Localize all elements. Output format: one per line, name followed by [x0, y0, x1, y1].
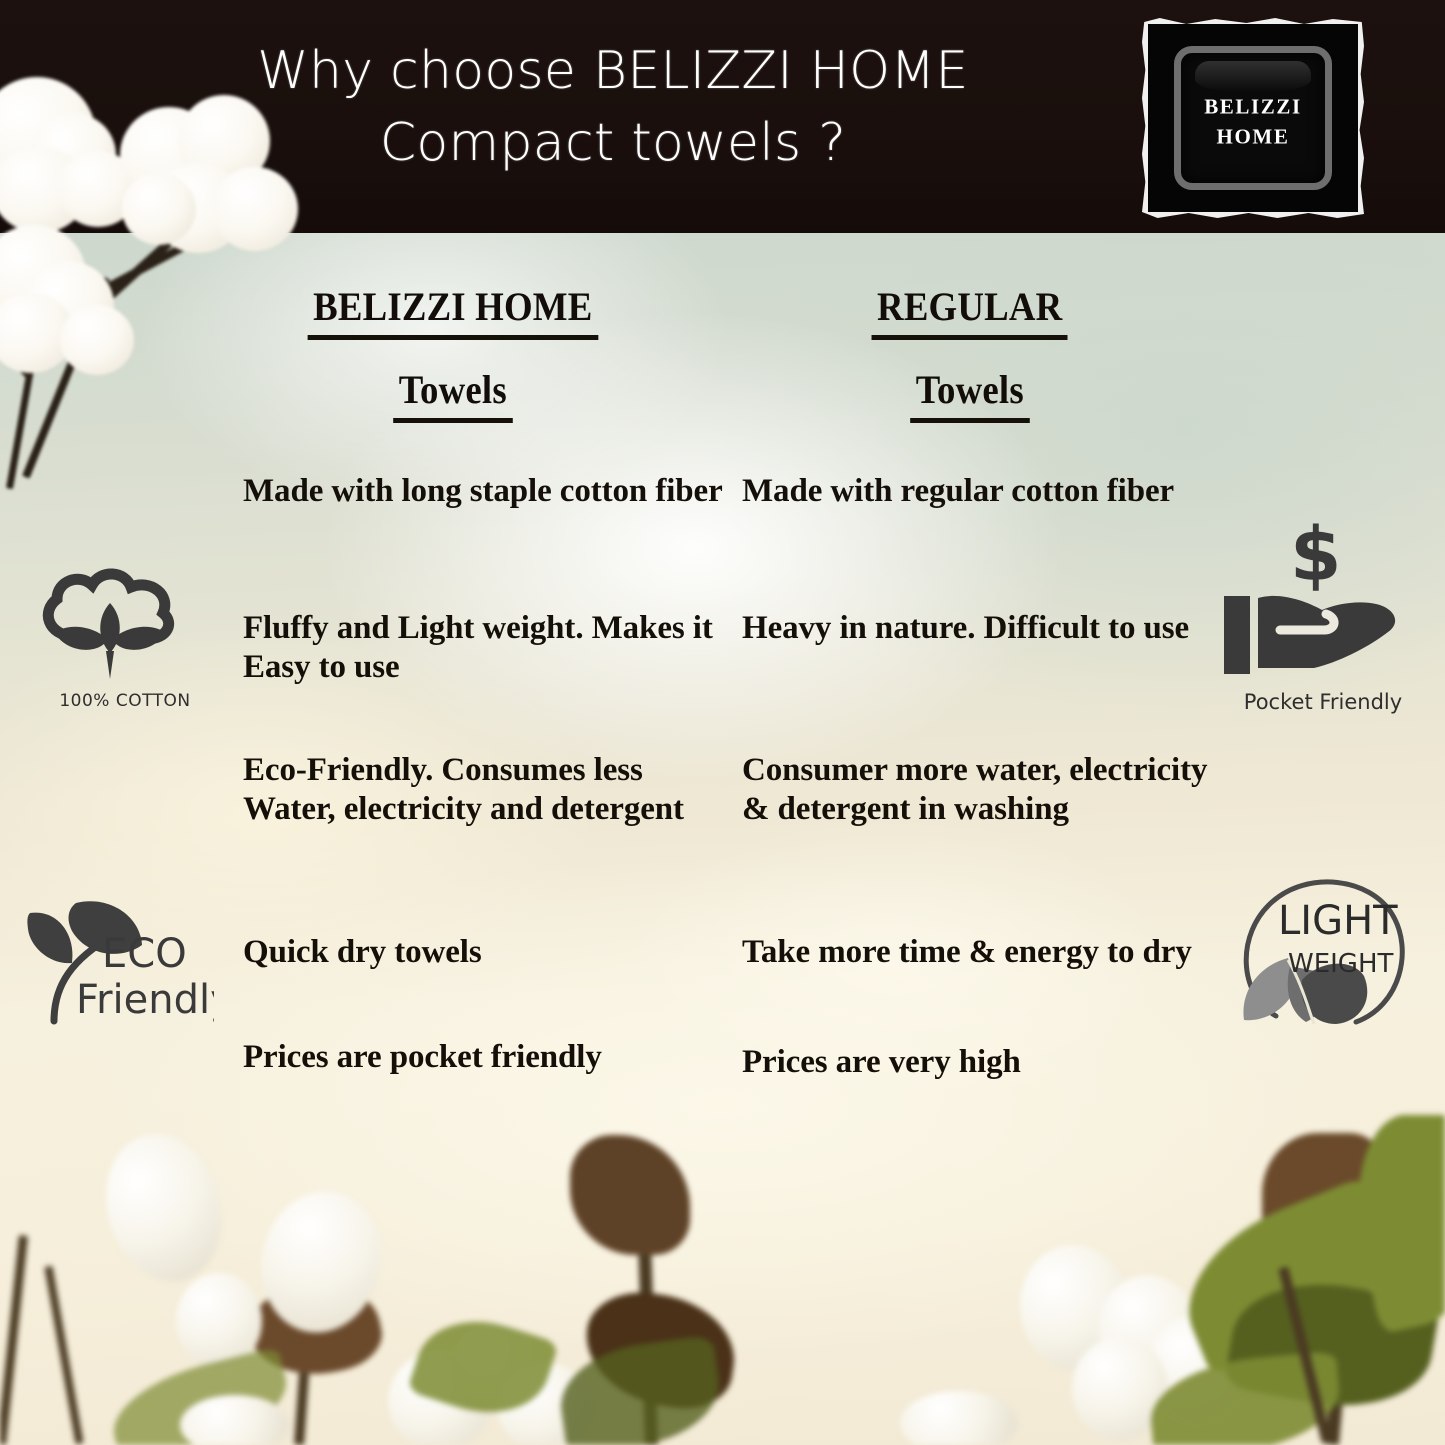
table-row-right-5: Prices are very high	[742, 1043, 1212, 1082]
column-header-regular-line1: REGULAR	[872, 283, 1068, 340]
logo-text: BELIZZI HOME	[1148, 91, 1358, 152]
column-header-belizzi-line1: BELIZZI HOME	[308, 283, 598, 340]
badge-eco-line2: Friendly	[76, 977, 214, 1023]
badge-eco-friendly: ECO Friendly	[14, 885, 224, 1033]
dollar-symbol: $	[1290, 518, 1342, 598]
column-header-regular-line2: Towels	[910, 366, 1029, 423]
badge-light-line2: WEIGHT	[1288, 949, 1394, 979]
badge-cotton-label: 100% COTTON	[35, 691, 215, 711]
column-header-belizzi-line2: Towels	[393, 366, 512, 423]
cotton-boll-icon	[35, 565, 185, 687]
logo-line1: BELIZZI	[1204, 94, 1302, 118]
feather-icon: LIGHT WEIGHT	[1232, 862, 1420, 1042]
badge-light-weight: LIGHT WEIGHT	[1232, 862, 1420, 1042]
dollar-hand-icon: $	[1218, 518, 1418, 688]
leaf-icon: ECO Friendly	[14, 885, 214, 1033]
table-row-right-3: Consumer more water, electricity & deter…	[742, 751, 1212, 829]
page-title-line1: Why choose BELIZZI HOME	[257, 41, 968, 101]
brand-logo[interactable]: BELIZZI HOME	[1142, 18, 1364, 218]
table-row-left-5: Prices are pocket friendly	[243, 1038, 733, 1077]
logo-plate: BELIZZI HOME	[1148, 24, 1358, 212]
badge-pocket-label: Pocket Friendly	[1218, 690, 1428, 714]
comparison-table: BELIZZI HOME Towels REGULAR Towels Made …	[0, 233, 1445, 1445]
infographic-canvas: Why choose BELIZZI HOME Compact towels ?	[0, 0, 1445, 1445]
table-row-left-4: Quick dry towels	[243, 933, 733, 972]
badge-cotton: 100% COTTON	[35, 565, 215, 711]
badge-eco-line1: ECO	[102, 931, 187, 977]
logo-line2: HOME	[1217, 125, 1290, 149]
table-row-left-3: Eco-Friendly. Consumes less Water, elect…	[243, 751, 733, 829]
table-row-left-2: Fluffy and Light weight. Makes it Easy t…	[243, 609, 733, 687]
badge-light-line1: LIGHT	[1278, 898, 1398, 944]
badge-pocket-friendly: $ Pocket Friendly	[1218, 518, 1428, 714]
logo-gloss	[1195, 61, 1310, 92]
column-header-regular: REGULAR Towels	[800, 283, 1140, 423]
table-row-right-2: Heavy in nature. Difficult to use	[742, 609, 1212, 648]
page-title-line2: Compact towels ?	[380, 113, 846, 173]
table-row-right-4: Take more time & energy to dry	[742, 933, 1212, 972]
column-header-belizzi: BELIZZI HOME Towels	[243, 283, 663, 423]
table-row-right-1: Made with regular cotton fiber	[742, 472, 1212, 511]
table-row-left-1: Made with long staple cotton fiber	[243, 472, 733, 511]
